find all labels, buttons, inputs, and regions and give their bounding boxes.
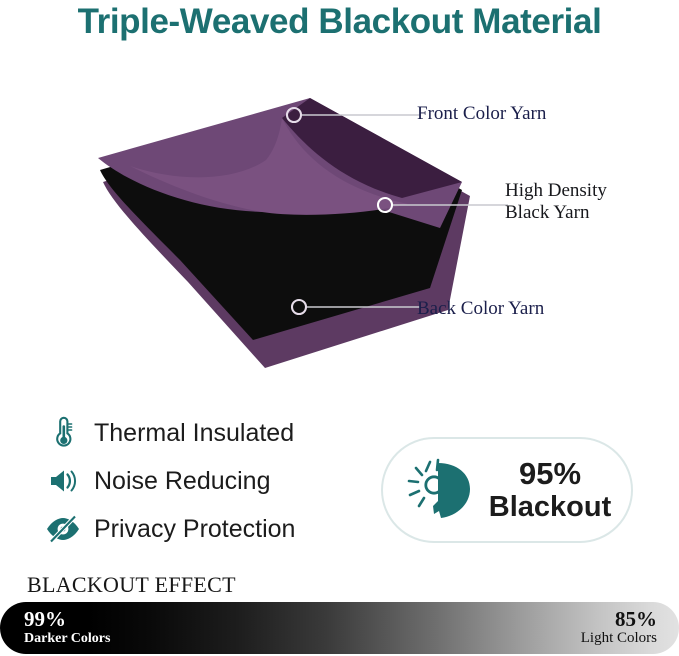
- callout-label-front-yarn: Front Color Yarn: [417, 103, 546, 125]
- feature-list: Thermal Insulated Noise Reducing Privacy…: [44, 410, 364, 554]
- eye-slash-icon: [44, 510, 82, 548]
- blackout-effect-light-colors: 85% Light Colors: [581, 602, 657, 654]
- blackout-label: Blackout: [483, 491, 617, 523]
- blackout-badge-text: 95% Blackout: [483, 457, 631, 523]
- feature-item-noise-reducing: Noise Reducing: [44, 458, 364, 504]
- light-colors-caption: Light Colors: [581, 630, 657, 647]
- callout-label-black-yarn-line1: High Density: [505, 180, 607, 202]
- callout-label-black-yarn-line2: Black Yarn: [505, 202, 607, 224]
- darker-colors-percent: 99%: [24, 609, 66, 630]
- blackout-effect-heading: BLACKOUT EFFECT: [27, 572, 236, 598]
- feature-item-privacy-protection: Privacy Protection: [44, 506, 364, 552]
- feature-label: Noise Reducing: [94, 467, 271, 496]
- feature-item-thermal-insulated: Thermal Insulated: [44, 410, 364, 456]
- page-title: Triple-Weaved Blackout Material: [0, 2, 679, 42]
- blackout-badge: 95% Blackout: [381, 437, 633, 543]
- blackout-effect-gradient-bar: 99% Darker Colors 85% Light Colors: [0, 602, 679, 654]
- darker-colors-caption: Darker Colors: [24, 630, 110, 647]
- sun-blocked-by-curtain-icon: [405, 455, 483, 525]
- feature-label: Privacy Protection: [94, 515, 295, 544]
- feature-label: Thermal Insulated: [94, 419, 294, 448]
- light-colors-percent: 85%: [615, 609, 657, 630]
- blackout-effect-darker-colors: 99% Darker Colors: [24, 602, 110, 654]
- callout-label-back-yarn: Back Color Yarn: [417, 298, 544, 320]
- speaker-sound-icon: [44, 462, 82, 500]
- callout-label-black-yarn: High Density Black Yarn: [505, 180, 607, 224]
- thermometer-icon: [44, 414, 82, 452]
- blackout-percent: 95%: [483, 457, 617, 491]
